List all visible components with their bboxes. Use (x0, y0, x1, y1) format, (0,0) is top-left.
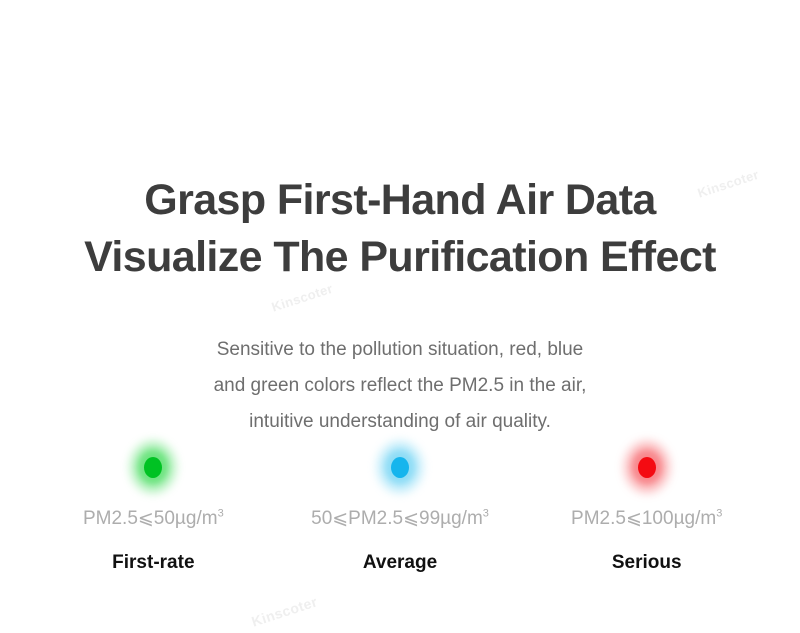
range-superscript: 3 (218, 508, 224, 520)
page-subtitle: Sensitive to the pollution situation, re… (0, 332, 800, 440)
range-text: PM2.5⩽100µg/m (571, 508, 716, 529)
range-label-serious: PM2.5⩽100µg/m3 (571, 508, 722, 530)
headline-line-2: Visualize The Purification Effect (0, 229, 800, 286)
range-superscript: 3 (716, 508, 722, 520)
range-label-first-rate: PM2.5⩽50µg/m3 (83, 508, 224, 530)
grade-label-first-rate: First-rate (112, 552, 194, 574)
legend-item-serious: PM2.5⩽100µg/m3 Serious (523, 440, 770, 574)
blue-dot-core (391, 457, 409, 478)
air-quality-legend: PM2.5⩽50µg/m3 First-rate 50⩽PM2.5⩽99µg/m… (0, 440, 800, 574)
green-status-dot (125, 440, 181, 494)
green-dot-core (144, 457, 162, 478)
legend-item-average: 50⩽PM2.5⩽99µg/m3 Average (277, 440, 524, 574)
red-dot-core (638, 457, 656, 478)
legend-item-first-rate: PM2.5⩽50µg/m3 First-rate (30, 440, 277, 574)
range-text: PM2.5⩽50µg/m (83, 508, 218, 529)
grade-label-serious: Serious (612, 552, 682, 574)
watermark-bottom: Kinscoter (250, 593, 320, 629)
range-label-average: 50⩽PM2.5⩽99µg/m3 (311, 508, 489, 530)
subtitle-line-2: and green colors reflect the PM2.5 in th… (0, 368, 800, 404)
grade-label-average: Average (363, 552, 437, 574)
range-text: 50⩽PM2.5⩽99µg/m (311, 508, 483, 529)
range-superscript: 3 (483, 508, 489, 520)
air-quality-info-page: Kinscoter Kinscoter Kinscoter Grasp Firs… (0, 0, 800, 633)
headline-line-1: Grasp First-Hand Air Data (0, 172, 800, 229)
blue-status-dot (372, 440, 428, 494)
subtitle-line-3: intuitive understanding of air quality. (0, 404, 800, 440)
red-status-dot (619, 440, 675, 494)
page-title: Grasp First-Hand Air Data Visualize The … (0, 172, 800, 286)
subtitle-line-1: Sensitive to the pollution situation, re… (0, 332, 800, 368)
